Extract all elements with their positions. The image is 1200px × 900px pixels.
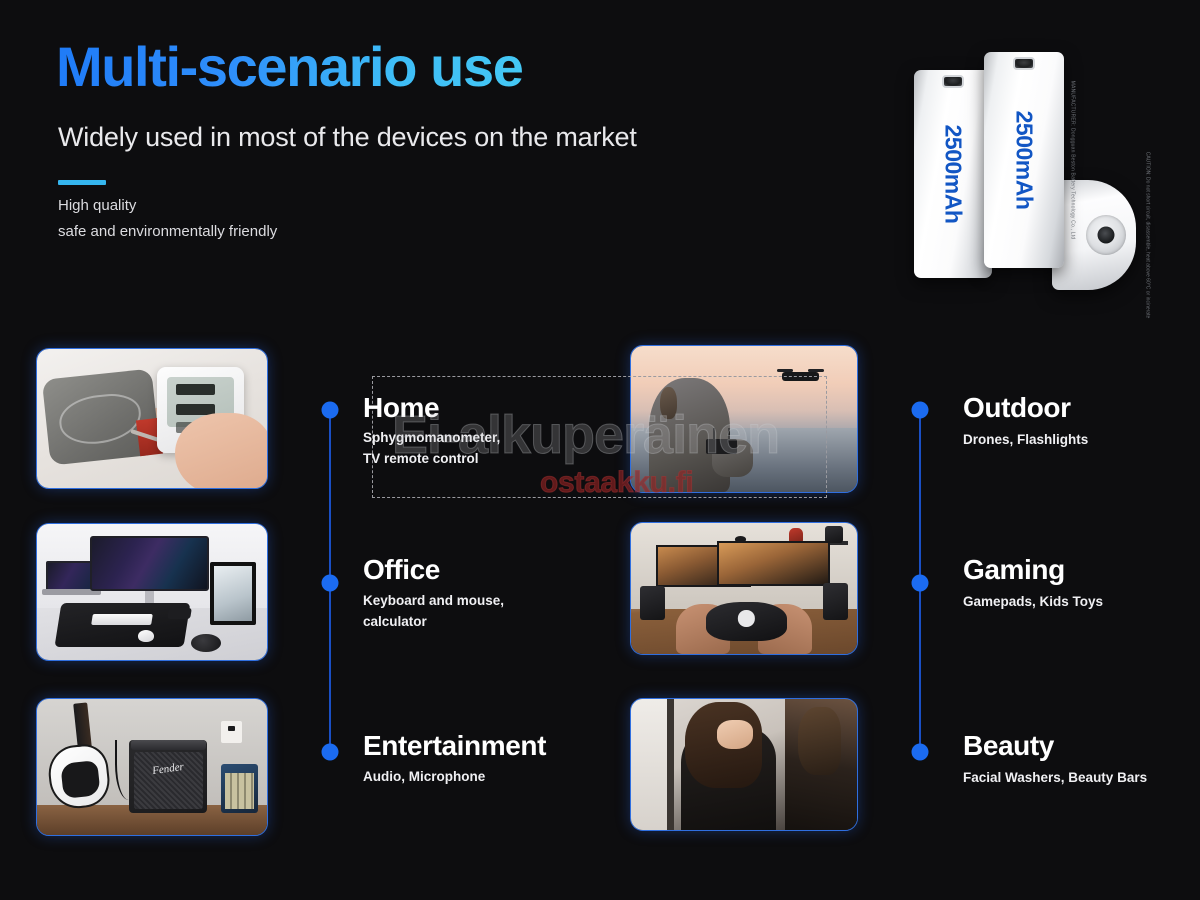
page-subtitle: Widely used in most of the devices on th…: [58, 122, 637, 153]
category-desc-beauty-line-1: Facial Washers, Beauty Bars: [963, 767, 1147, 788]
battery-capacity-label: 2500mAh: [1011, 111, 1038, 210]
timeline-dot-home: [322, 402, 339, 419]
battery-caution-text: CAUTION: Do not short circuit, disassemb…: [1144, 152, 1150, 319]
category-desc-home-line-2: TV remote control: [363, 448, 500, 469]
battery-cell-lying: CAUTION: Do not short circuit, disassemb…: [1052, 180, 1136, 290]
woman-mirror-beauty-photo: [631, 699, 857, 830]
category-title-office: Office: [363, 554, 440, 586]
category-desc-entertainment: Audio, Microphone: [363, 766, 485, 787]
thumbnail-drone-pilot[interactable]: [630, 345, 858, 493]
category-desc-office: Keyboard and mouse, calculator: [363, 590, 504, 632]
category-desc-office-line-2: calculator: [363, 611, 504, 632]
desk-setup-photo: [37, 524, 267, 660]
timeline-dot-beauty: [912, 744, 929, 761]
thumbnail-guitar-amplifier[interactable]: Fender: [36, 698, 268, 836]
category-title-outdoor: Outdoor: [963, 392, 1071, 424]
category-desc-home-line-1: Sphygmomanometer,: [363, 427, 500, 448]
timeline-dot-office: [322, 575, 339, 592]
category-desc-gaming-line-1: Gamepads, Kids Toys: [963, 591, 1103, 612]
battery-positive-terminal-icon: [1013, 57, 1035, 70]
category-desc-outdoor: Drones, Flashlights: [963, 429, 1088, 450]
drone-pilot-sunset-photo: [631, 346, 857, 492]
tagline-block: High quality safe and environmentally fr…: [58, 193, 277, 245]
category-desc-office-line-1: Keyboard and mouse,: [363, 590, 504, 611]
category-title-entertainment: Entertainment: [363, 730, 546, 762]
category-desc-home: Sphygmomanometer, TV remote control: [363, 427, 500, 469]
battery-positive-terminal-icon: [942, 75, 964, 88]
battery-cell-left: MANUFACTURER: Dongguan Beston Battery Te…: [914, 70, 992, 278]
timeline-dot-gaming: [912, 575, 929, 592]
blood-pressure-monitor-photo: [37, 349, 267, 488]
tagline-line-2: safe and environmentally friendly: [58, 219, 277, 245]
battery-manufacturer-text: MANUFACTURER: Dongguan Beston Battery Te…: [1069, 81, 1075, 240]
category-title-home: Home: [363, 392, 439, 424]
category-desc-entertainment-line-1: Audio, Microphone: [363, 766, 485, 787]
guitar-amplifier-photo: Fender: [37, 699, 267, 835]
battery-capacity-label: 2500mAh: [940, 125, 967, 224]
timeline-dot-outdoor: [912, 402, 929, 419]
thumbnail-blood-pressure-monitor[interactable]: [36, 348, 268, 489]
category-desc-gaming: Gamepads, Kids Toys: [963, 591, 1103, 612]
category-title-gaming: Gaming: [963, 554, 1065, 586]
thumbnail-desk-setup[interactable]: [36, 523, 268, 661]
category-desc-outdoor-line-1: Drones, Flashlights: [963, 429, 1088, 450]
infographic-page: Multi-scenario use Widely used in most o…: [0, 0, 1200, 900]
accent-divider: [58, 180, 106, 185]
thumbnail-beauty-mirror[interactable]: [630, 698, 858, 831]
timeline-dot-entertainment: [322, 744, 339, 761]
battery-cell-center: MANUFACTURER: Dongguan Beston Battery Te…: [984, 52, 1064, 268]
battery-negative-terminal-icon: [1086, 215, 1126, 255]
tagline-line-1: High quality: [58, 193, 277, 219]
page-title: Multi-scenario use: [56, 38, 522, 97]
category-desc-beauty: Facial Washers, Beauty Bars: [963, 767, 1147, 788]
gaming-setup-controller-photo: [631, 523, 857, 654]
battery-product-image: MANUFACTURER: Dongguan Beston Battery Te…: [900, 34, 1130, 284]
thumbnail-gaming-setup[interactable]: [630, 522, 858, 655]
category-title-beauty: Beauty: [963, 730, 1054, 762]
